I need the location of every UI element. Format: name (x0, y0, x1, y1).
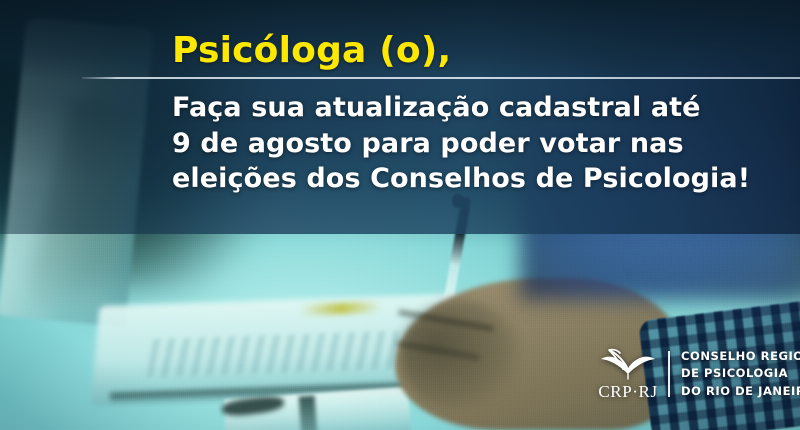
logo-mark: CRP·RJ (592, 348, 664, 400)
campaign-message-line-2: 9 de agosto para poder votar nas (172, 126, 750, 162)
logo-wordmark-line-2: DE PSICOLOGIA (681, 365, 800, 382)
campaign-message: Faça sua atualização cadastral até 9 de … (172, 90, 750, 197)
open-book-quill-icon (597, 348, 659, 382)
logo-wordmark-line-1: CONSELHO REGIONAL (681, 348, 800, 365)
logo-acronym: CRP·RJ (598, 383, 657, 400)
logo-divider (668, 351, 670, 397)
logo-wordmark-line-3: DO RIO DE JANEIRO (681, 383, 800, 400)
campaign-message-line-1: Faça sua atualização cadastral até (172, 90, 750, 126)
page-title: Psicóloga (o), (172, 33, 451, 69)
crp-rj-campaign-banner: Psicóloga (o), Faça sua atualização cada… (0, 0, 800, 430)
crp-rj-logo: CRP·RJ CONSELHO REGIONAL DE PSICOLOGIA D… (592, 348, 800, 400)
campaign-message-line-3: eleições dos Conselhos de Psicologia! (172, 161, 750, 197)
headline-divider (82, 77, 800, 79)
logo-wordmark: CONSELHO REGIONAL DE PSICOLOGIA DO RIO D… (681, 348, 800, 399)
